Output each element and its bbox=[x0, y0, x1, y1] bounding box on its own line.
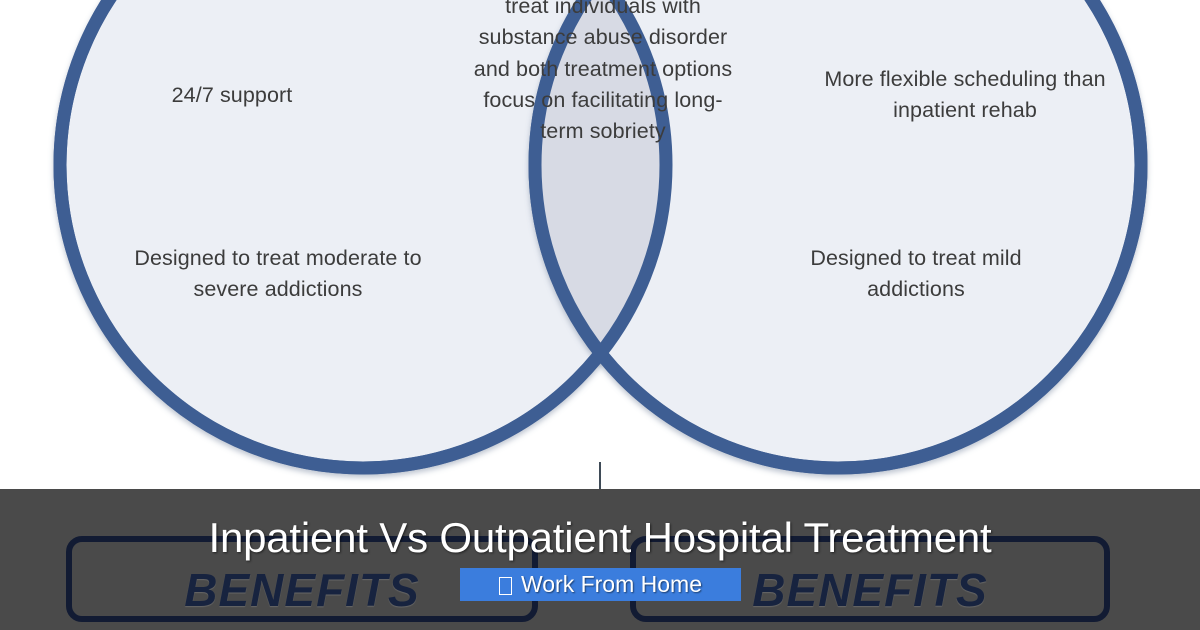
benefits-label-left: BENEFITS bbox=[184, 563, 419, 617]
work-from-home-badge[interactable]: Work From Home bbox=[460, 568, 741, 601]
missing-glyph-box-icon bbox=[499, 577, 512, 595]
venn-left-bottom-text: Designed to treat moderate to severe add… bbox=[118, 243, 438, 305]
benefits-label-right: BENEFITS bbox=[752, 563, 987, 617]
work-from-home-badge-label: Work From Home bbox=[521, 571, 702, 598]
venn-right-top-text: More flexible scheduling than inpatient … bbox=[810, 64, 1120, 126]
venn-overlap-text: Inpatient treatment programs are designe… bbox=[465, 0, 741, 148]
page-title: Inpatient Vs Outpatient Hospital Treatme… bbox=[0, 509, 1200, 567]
venn-left-top-text: 24/7 support bbox=[96, 80, 368, 111]
venn-right-bottom-text: Designed to treat mild addictions bbox=[800, 243, 1032, 305]
